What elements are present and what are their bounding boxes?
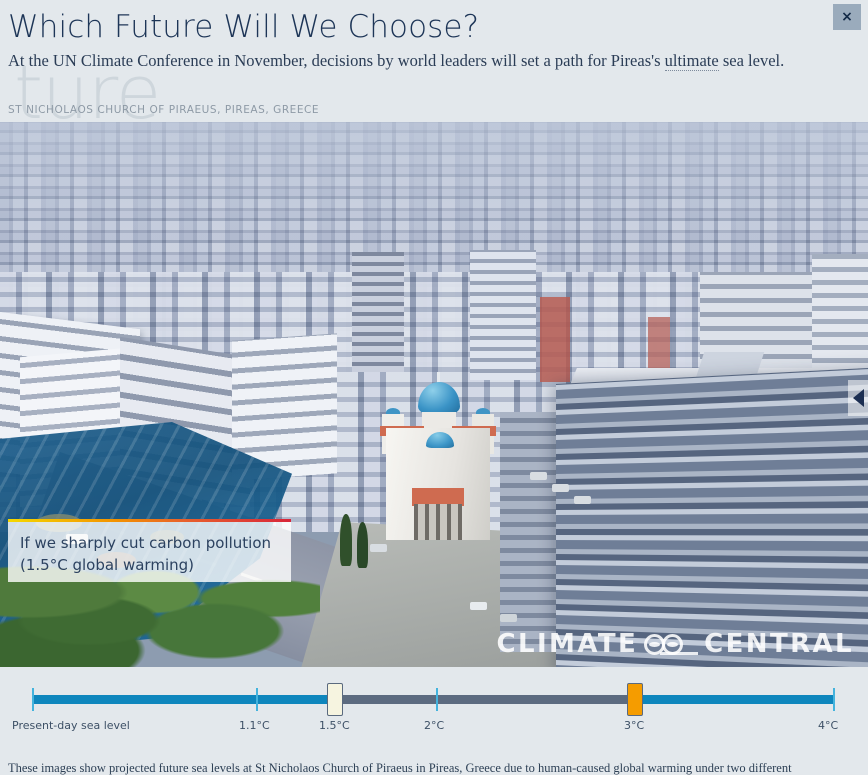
parked-car (574, 496, 591, 504)
cypress-tree-1 (340, 514, 352, 566)
footer-description: These images show projected future sea l… (8, 760, 860, 775)
location-label: ST NICHOLAOS CHURCH OF PIRAEUS, PIREAS, … (8, 104, 319, 116)
red-facade-building (540, 297, 570, 382)
background-tower-2 (812, 254, 868, 384)
logo-text-right: CENTRAL (704, 629, 854, 659)
st-nicholaos-church (378, 370, 498, 540)
page-subtitle: At the UN Climate Conference in November… (8, 49, 840, 73)
parked-car (530, 472, 547, 480)
building-slab-left-of-church (352, 252, 404, 372)
slider-label-2c: 2°C (424, 719, 444, 732)
co2-underline (660, 652, 698, 655)
slider-handle-3c[interactable] (627, 683, 643, 716)
modal-header: ture Which Future Will We Choose? At the… (0, 0, 868, 122)
slider-tick-present-day (32, 688, 34, 711)
slider-label-1-5c: 1.5°C (319, 719, 350, 732)
slider-label-3c: 3°C (624, 719, 644, 732)
slider-label-present-day: Present-day sea level (12, 719, 130, 732)
climate-central-logo: CLIMATE CENTRAL (497, 629, 854, 659)
church-main-dome (418, 382, 460, 416)
parked-car (370, 544, 387, 552)
parked-car (470, 602, 487, 610)
slider-tick-4c (833, 688, 835, 711)
slider-tick-1-1c (256, 688, 258, 711)
caption-line-1: If we sharply cut carbon pollution (20, 532, 279, 554)
striped-office-building (556, 366, 868, 667)
caption-line-2: (1.5°C global warming) (20, 554, 279, 576)
cypress-tree-2 (357, 522, 368, 568)
church-portico-columns (414, 504, 462, 540)
page-title: Which Future Will We Choose? (8, 9, 479, 45)
close-button[interactable]: × (833, 4, 861, 30)
chevron-left-icon (853, 389, 864, 407)
parked-car (552, 484, 569, 492)
subtitle-text-before: At the UN Climate Conference in November… (8, 51, 665, 70)
slider-track-selected-range[interactable] (335, 695, 635, 704)
parked-car (500, 614, 517, 622)
slider-label-1-1c: 1.1°C (239, 719, 270, 732)
building-slab-right-of-church (470, 250, 536, 380)
slider-tick-2c (436, 688, 438, 711)
temperature-slider[interactable]: Present-day sea level 1.1°C 1.5°C 2°C 3°… (0, 667, 868, 737)
caption-text: If we sharply cut carbon pollution (1.5°… (8, 522, 291, 582)
sea-level-projection-modal: ture Which Future Will We Choose? At the… (0, 0, 868, 775)
subtitle-text-after: sea level. (719, 51, 785, 70)
co2-mark-icon (644, 630, 698, 658)
slider-label-4c: 4°C (818, 719, 838, 732)
aerial-photo (0, 122, 868, 667)
previous-image-arrow-button[interactable] (848, 380, 868, 416)
logo-text-left: CLIMATE (497, 629, 639, 659)
projection-image-viewer[interactable]: If we sharply cut carbon pollution (1.5°… (0, 122, 868, 667)
subtitle-underlined-word: ultimate (665, 51, 719, 71)
slider-handle-1-5c[interactable] (327, 683, 343, 716)
